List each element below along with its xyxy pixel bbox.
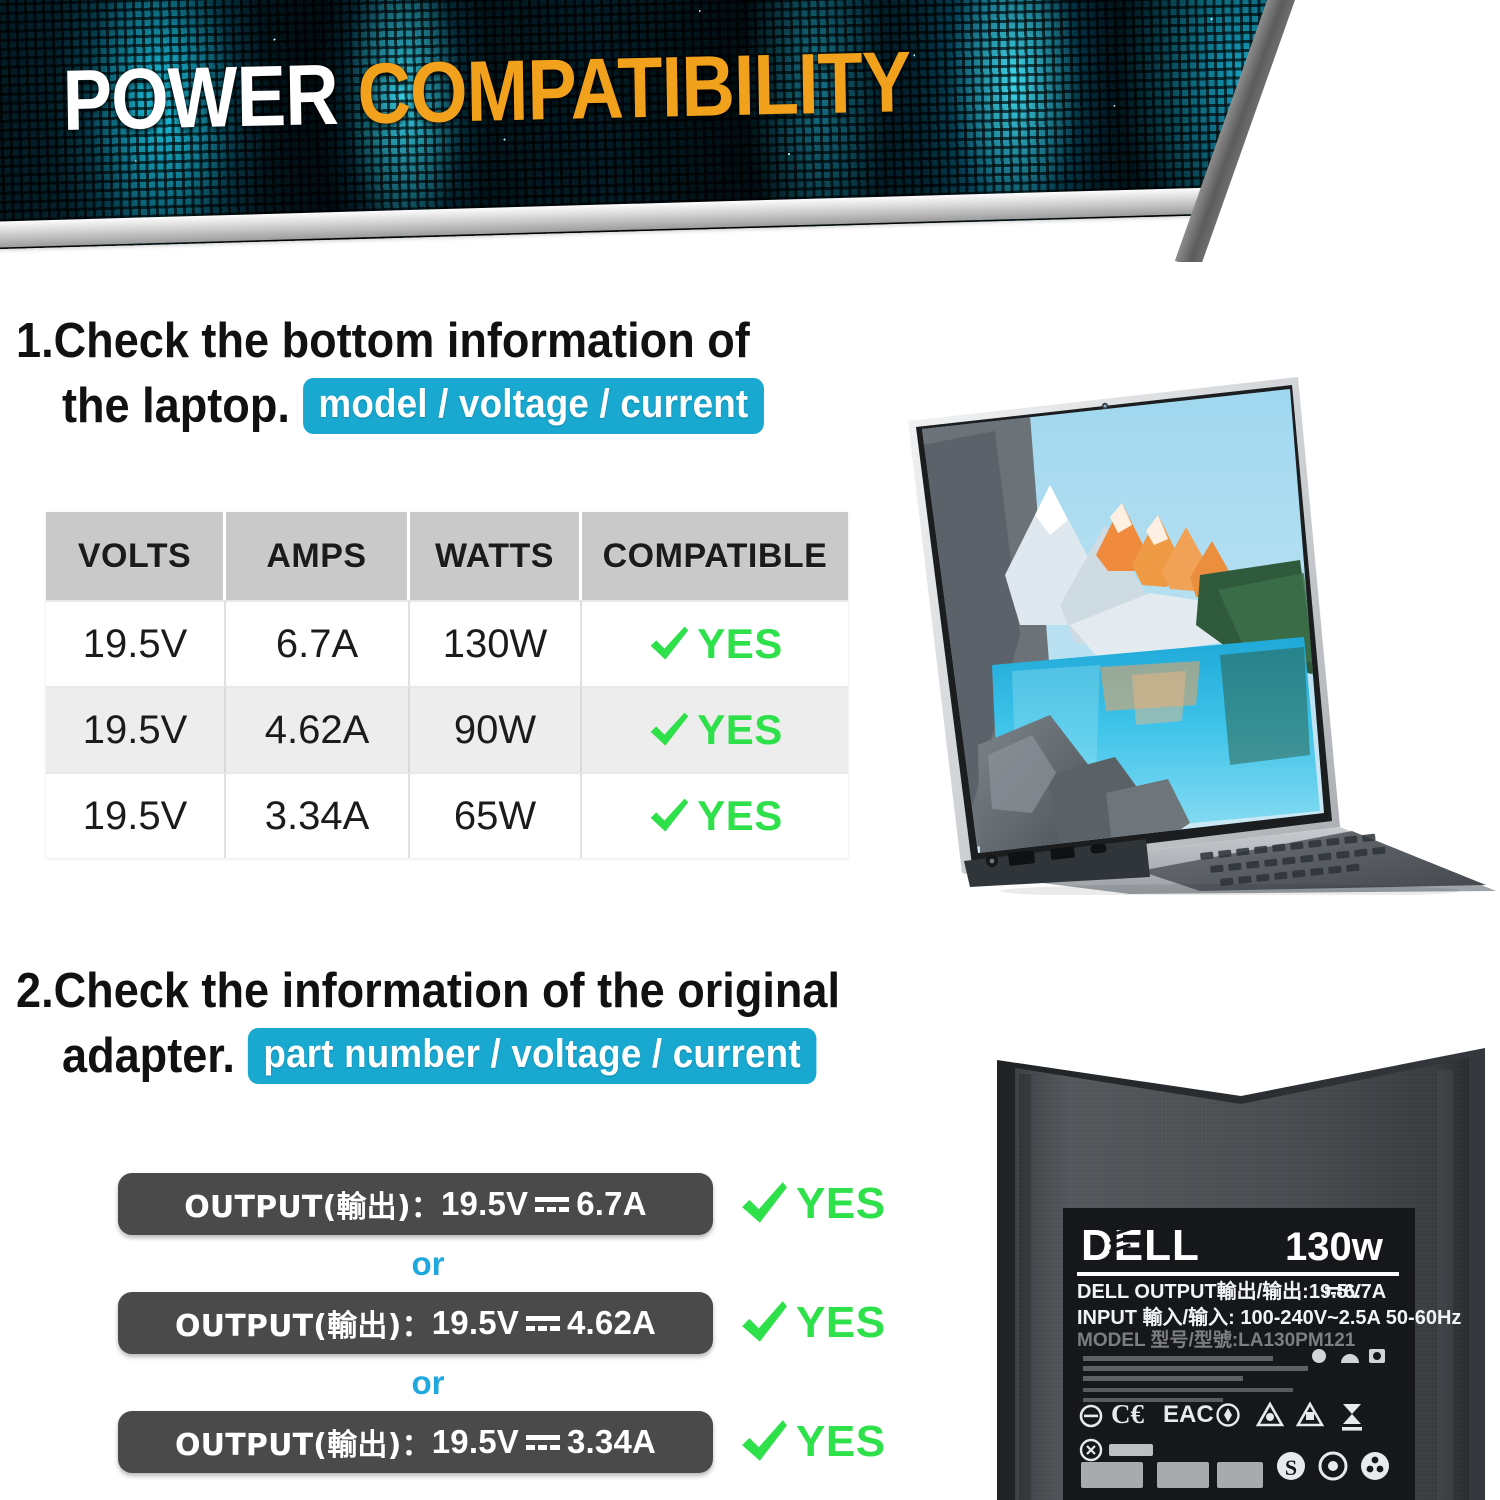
table-row: 19.5V 4.62A 90W YES bbox=[46, 686, 848, 772]
svg-text:EAC: EAC bbox=[1163, 1401, 1214, 1428]
output-pill: OUTPUT(輸出)： 19.5V 6.7A bbox=[118, 1173, 713, 1235]
header-banner: POWER COMPATIBILITY bbox=[0, 0, 1500, 262]
table-row: 19.5V 3.34A 65W YES bbox=[46, 772, 848, 858]
compatibility-table: VOLTS AMPS WATTS COMPATIBLE 19.5V 6.7A 1… bbox=[46, 512, 848, 858]
step-2-badge: part number / voltage / current bbox=[248, 1028, 817, 1084]
step-2-line-2-row: adapter. part number / voltage / current bbox=[62, 1027, 844, 1086]
yes-label: YES bbox=[796, 1179, 886, 1229]
cell-amps: 6.7A bbox=[226, 600, 410, 686]
cell-watts: 130W bbox=[410, 600, 582, 686]
dc-current-icon bbox=[526, 1432, 560, 1453]
yes-label: YES bbox=[697, 792, 783, 840]
output-pill: OUTPUT(輸出)： 19.5V 3.34A bbox=[118, 1411, 713, 1473]
step-1-line-2-row: the laptop. model / voltage / current bbox=[62, 377, 764, 436]
output-pill: OUTPUT(輸出)： 19.5V 4.62A bbox=[118, 1292, 713, 1354]
cell-compatible: YES bbox=[582, 772, 848, 858]
svg-text:C€: C€ bbox=[1111, 1399, 1144, 1429]
output-option-row: OUTPUT(輸出)： 19.5V 4.62A YES bbox=[118, 1291, 908, 1355]
step-2-line-1: 2.Check the information of the original bbox=[16, 962, 840, 1021]
adapter-wattage: 130w bbox=[1285, 1225, 1384, 1269]
table-header-watts: WATTS bbox=[410, 512, 582, 600]
cell-volts: 19.5V bbox=[46, 772, 226, 858]
output-voltage: 19.5V bbox=[432, 1304, 519, 1342]
dell-logo: DELL bbox=[1081, 1221, 1200, 1270]
dc-current-icon bbox=[535, 1194, 569, 1215]
adapter-output-line: DELL OUTPUT輸出/输出:19.5V bbox=[1077, 1279, 1362, 1303]
table-header-volts: VOLTS bbox=[46, 512, 226, 600]
yes-label: YES bbox=[796, 1298, 886, 1348]
check-icon bbox=[739, 1179, 789, 1229]
yes-label: YES bbox=[796, 1417, 886, 1467]
table-header-row: VOLTS AMPS WATTS COMPATIBLE bbox=[46, 512, 848, 600]
check-icon bbox=[739, 1298, 789, 1348]
output-verdict: YES bbox=[739, 1298, 886, 1348]
output-current: 4.62A bbox=[567, 1304, 656, 1342]
table-header-amps: AMPS bbox=[226, 512, 410, 600]
cell-watts: 65W bbox=[410, 772, 582, 858]
or-label: or bbox=[412, 1245, 445, 1283]
svg-text:S: S bbox=[1285, 1455, 1297, 1480]
svg-text:MODEL 型号/型號:LA130PM121: MODEL 型号/型號:LA130PM121 bbox=[1077, 1328, 1356, 1351]
table-header-compatible: COMPATIBLE bbox=[582, 512, 848, 600]
output-label: OUTPUT(輸出)： bbox=[175, 1420, 432, 1464]
yes-label: YES bbox=[697, 706, 783, 754]
svg-text:6.7A: 6.7A bbox=[1344, 1281, 1386, 1303]
cell-watts: 90W bbox=[410, 686, 582, 772]
output-label: OUTPUT(輸出)： bbox=[175, 1301, 432, 1345]
check-icon bbox=[647, 622, 691, 666]
output-option-row: OUTPUT(輸出)： 19.5V 6.7A YES bbox=[118, 1172, 908, 1236]
laptop-product-image bbox=[900, 375, 1500, 895]
cell-volts: 19.5V bbox=[46, 600, 226, 686]
check-icon bbox=[739, 1417, 789, 1467]
output-voltage: 19.5V bbox=[432, 1423, 519, 1461]
output-verdict: YES bbox=[739, 1179, 886, 1229]
adapter-output-options: OUTPUT(輸出)： 19.5V 6.7A YES or OUTPUT(輸出)… bbox=[118, 1172, 908, 1474]
step-1-heading: 1.Check the bottom information of the la… bbox=[16, 312, 825, 436]
output-voltage: 19.5V bbox=[441, 1185, 528, 1223]
step-1-line-2: the laptop. bbox=[62, 377, 290, 436]
step-1-badge: model / voltage / current bbox=[303, 378, 764, 434]
cell-amps: 3.34A bbox=[226, 772, 410, 858]
or-label: or bbox=[412, 1364, 445, 1402]
cell-volts: 19.5V bbox=[46, 686, 226, 772]
svg-text:DELL: DELL bbox=[1081, 1221, 1200, 1270]
output-option-row: OUTPUT(輸出)： 19.5V 3.34A YES bbox=[118, 1410, 908, 1474]
check-icon bbox=[647, 794, 691, 838]
or-separator: or bbox=[118, 1355, 738, 1410]
step-2-heading: 2.Check the information of the original … bbox=[16, 962, 912, 1086]
cell-compatible: YES bbox=[582, 600, 848, 686]
yes-label: YES bbox=[697, 620, 783, 668]
cell-amps: 4.62A bbox=[226, 686, 410, 772]
or-separator: or bbox=[118, 1236, 738, 1291]
banner-title-word-compatibility: COMPATIBILITY bbox=[357, 34, 912, 142]
power-adapter-product-image: DELL 130w DELL OUTPUT輸出/输出:19.5V 6.7A IN… bbox=[985, 1000, 1500, 1500]
banner-title-word-power: POWER bbox=[62, 47, 339, 149]
output-verdict: YES bbox=[739, 1417, 886, 1467]
step-2-line-2: adapter. bbox=[62, 1027, 235, 1086]
table-row: 19.5V 6.7A 130W YES bbox=[46, 600, 848, 686]
dc-current-icon bbox=[526, 1313, 560, 1334]
banner-title: POWER COMPATIBILITY bbox=[62, 39, 911, 144]
cell-compatible: YES bbox=[582, 686, 848, 772]
output-current: 6.7A bbox=[576, 1185, 647, 1223]
check-icon bbox=[647, 708, 691, 752]
output-label: OUTPUT(輸出)： bbox=[184, 1182, 441, 1226]
step-1-line-1: 1.Check the bottom information of bbox=[16, 312, 760, 371]
adapter-input-line: INPUT 輸入/输入: 100-240V~2.5A 50-60Hz bbox=[1077, 1305, 1461, 1329]
output-current: 3.34A bbox=[567, 1423, 656, 1461]
